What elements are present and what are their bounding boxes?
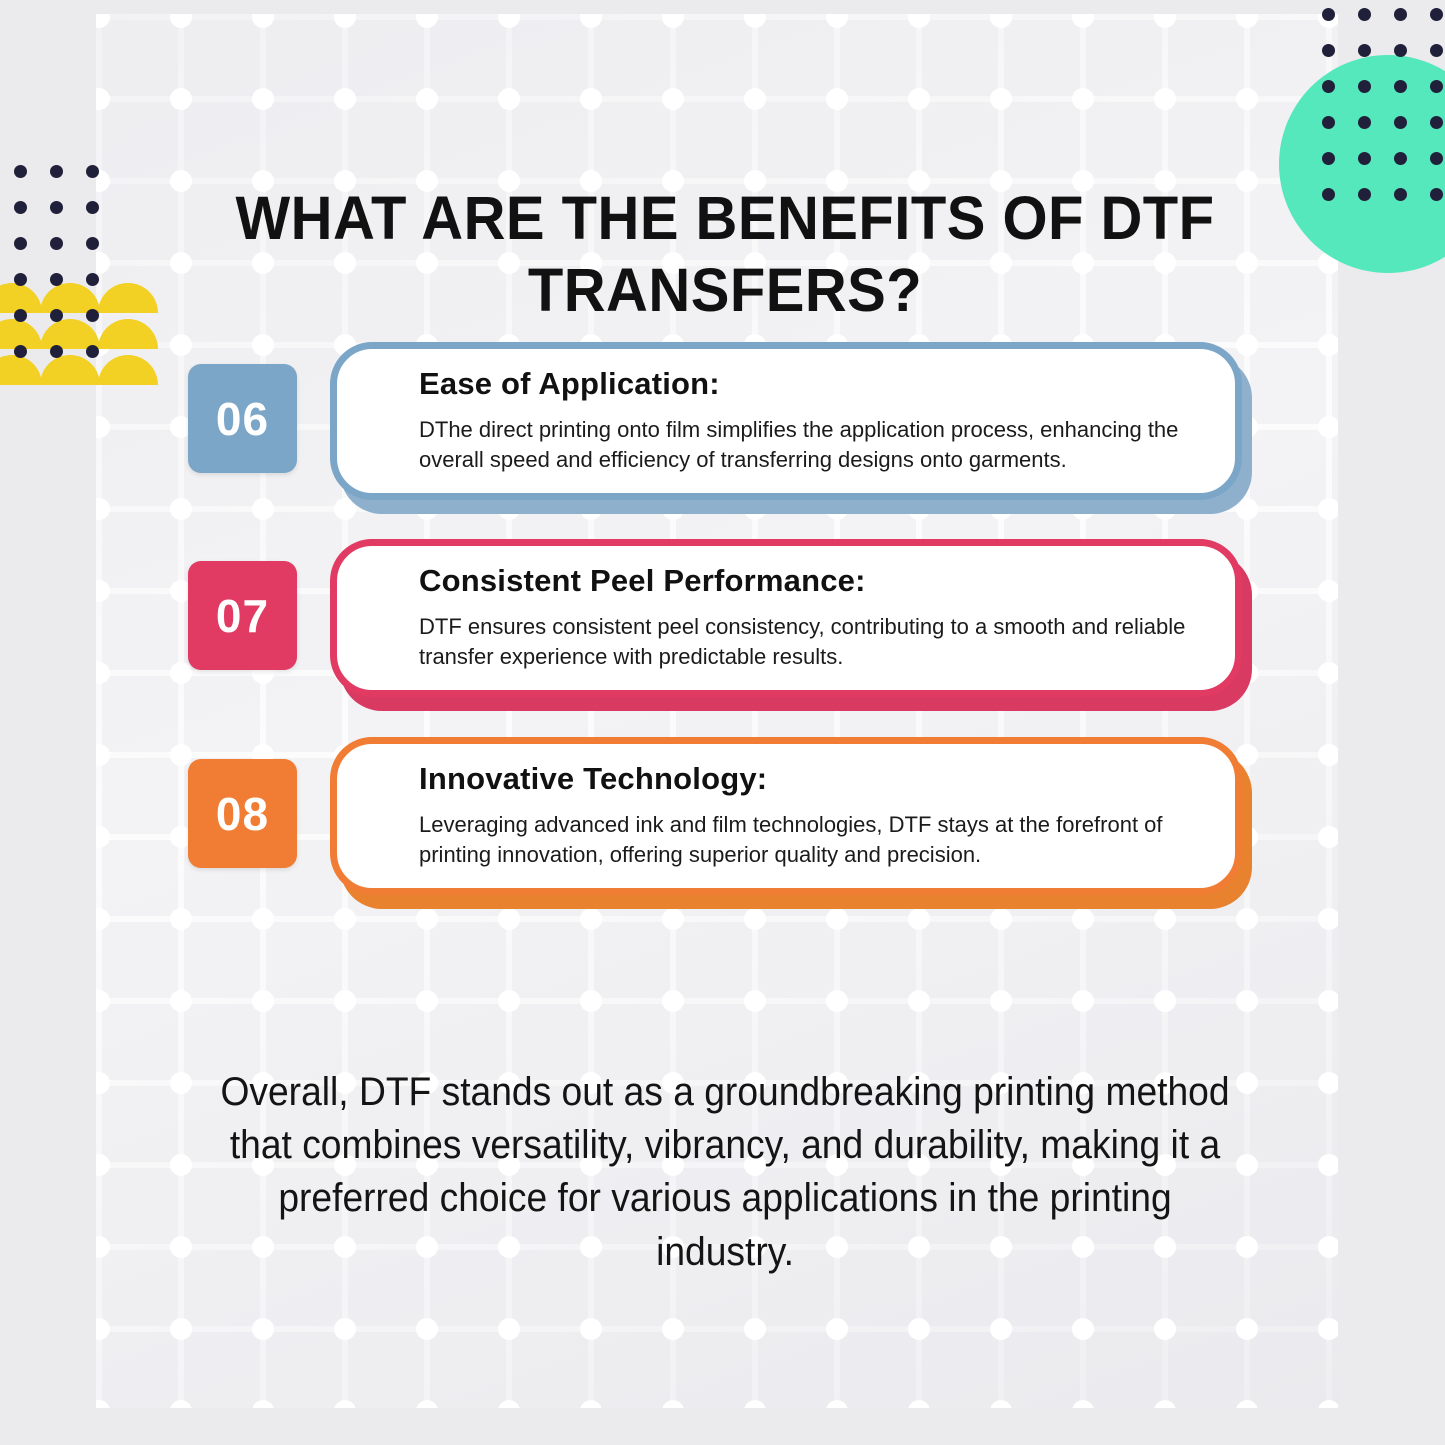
card-body: DThe direct printing onto film simplifie… — [419, 415, 1201, 476]
card-panel[interactable]: Ease of Application:DThe direct printing… — [330, 342, 1242, 500]
card-panel-inner: Innovative Technology:Leveraging advance… — [337, 744, 1235, 871]
infographic-poster: WHAT ARE THE BENEFITS OF DTF TRANSFERS? … — [0, 0, 1445, 1445]
card-number-badge: 06 — [188, 364, 297, 473]
card-number-label: 07 — [216, 589, 269, 643]
card-number-label: 06 — [216, 392, 269, 446]
card-panel-wrap: Ease of Application:DThe direct printing… — [330, 342, 1242, 514]
card-panel-inner: Ease of Application:DThe direct printing… — [337, 349, 1235, 476]
benefit-card[interactable]: 06Ease of Application:DThe direct printi… — [188, 342, 1258, 517]
card-panel-wrap: Consistent Peel Performance:DTF ensures … — [330, 539, 1242, 711]
card-number-badge: 07 — [188, 561, 297, 670]
card-number-label: 08 — [216, 787, 269, 841]
card-number-badge: 08 — [188, 759, 297, 868]
card-body: DTF ensures consistent peel consistency,… — [419, 612, 1201, 673]
card-panel-inner: Consistent Peel Performance:DTF ensures … — [337, 546, 1235, 673]
card-title: Consistent Peel Performance: — [419, 564, 1201, 598]
card-panel[interactable]: Consistent Peel Performance:DTF ensures … — [330, 539, 1242, 697]
summary-paragraph: Overall, DTF stands out as a groundbreak… — [218, 1066, 1232, 1279]
benefit-card[interactable]: 07Consistent Peel Performance:DTF ensure… — [188, 539, 1258, 714]
card-title: Innovative Technology: — [419, 762, 1201, 796]
card-title: Ease of Application: — [419, 367, 1201, 401]
benefit-card[interactable]: 08Innovative Technology:Leveraging advan… — [188, 737, 1258, 912]
card-panel[interactable]: Innovative Technology:Leveraging advance… — [330, 737, 1242, 895]
card-panel-wrap: Innovative Technology:Leveraging advance… — [330, 737, 1242, 909]
card-body: Leveraging advanced ink and film technol… — [419, 810, 1201, 871]
